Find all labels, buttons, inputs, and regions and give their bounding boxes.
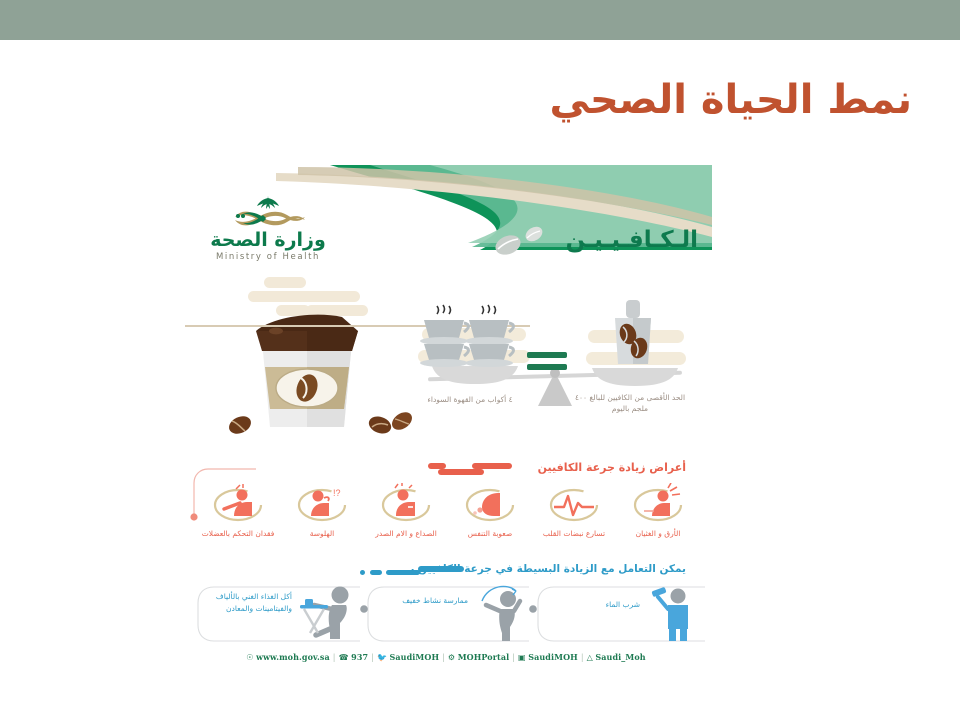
light-activity-person-icon — [472, 583, 532, 641]
footer-separator: | — [581, 653, 584, 662]
footer-instagram[interactable]: SaudiMOH — [528, 652, 578, 662]
snapchat-icon: △ — [587, 653, 593, 662]
footer-separator: | — [333, 653, 336, 662]
coffee-bean-decoration-icon — [490, 223, 552, 261]
hallucination-icon: !? — [294, 483, 350, 523]
breathing-difficulty-icon — [462, 483, 518, 523]
saudi-emblem-icon — [225, 195, 311, 231]
symptoms-heading: أعراض زيادة جرعة الكافيين — [538, 461, 686, 474]
symptoms-list: الأرق و الغثيان تسارع نبضات القلب — [200, 483, 700, 563]
footer-separator: | — [512, 653, 515, 662]
coffee-bean-jar — [615, 300, 651, 364]
moh-logo-arabic: وزارة الصحة — [188, 229, 348, 251]
scale-right-label: الحد الأقصى من الكافيين للبالغ ٤٠٠ ملجم … — [570, 393, 690, 415]
moh-logo-english: Ministry of Health — [188, 252, 348, 262]
tip-item: ممارسة نشاط خفيف — [382, 583, 532, 641]
page-title: نمط الحياة الصحي — [550, 78, 912, 122]
tip-label: أكل الغذاء الغني بالألياف والفيتامينات و… — [212, 591, 292, 614]
symptom-label: الصداع و الام الصدر — [364, 528, 448, 539]
symptoms-dash-decoration — [428, 463, 518, 477]
svg-text:!?: !? — [333, 488, 341, 498]
footer-snapchat[interactable]: Saudi_Moh — [595, 652, 645, 662]
symptom-label: صعوبة التنفس — [448, 528, 532, 539]
twitter-icon: 🐦 — [377, 653, 387, 662]
symptom-label: فقدان التحكم بالعضلات — [196, 528, 280, 539]
symptom-item: الأرق و الغثيان — [616, 483, 700, 539]
symptom-label: تسارع نبضات القلب — [532, 528, 616, 539]
footer-twitter[interactable]: SaudiMOH — [390, 652, 440, 662]
tips-list: شرب الماء ممارسة نشاط خفيف — [184, 583, 709, 645]
coffee-cup-illustration — [202, 275, 427, 445]
scale-left-label: ٤ أكواب من القهوة السوداء — [415, 395, 525, 406]
symptom-label: الهلوسة — [280, 528, 364, 539]
caffeine-balance-scale: ٤ أكواب من القهوة السوداء الحد الأقصى من… — [410, 300, 700, 445]
tip-item: شرب الماء — [552, 583, 702, 641]
tips-dash-decoration — [360, 565, 470, 577]
infographic-heading: الـكـافـيـيـن — [566, 227, 698, 253]
drinking-water-person-icon — [646, 583, 702, 641]
footer-portal[interactable]: MOHPortal — [458, 652, 510, 662]
symptom-item: صعوبة التنفس — [448, 483, 532, 539]
moh-logo: وزارة الصحة Ministry of Health — [188, 195, 348, 265]
eating-person-icon — [296, 583, 362, 641]
phone-icon: ☎ — [339, 653, 349, 662]
footer-contact-bar: ☉www.moh.gov.sa|☎937|🐦SaudiMOH|⚙MOHPorta… — [180, 652, 712, 662]
caffeine-infographic: وزارة الصحة Ministry of Health الـكـافـي… — [180, 165, 712, 677]
symptom-item: تسارع نبضات القلب — [532, 483, 616, 539]
portal-icon: ⚙ — [448, 653, 455, 662]
tip-item: أكل الغذاء الغني بالألياف والفيتامينات و… — [210, 583, 362, 641]
heartbeat-icon — [546, 483, 602, 523]
footer-phone: 937 — [351, 652, 368, 662]
top-decorative-bar — [0, 0, 960, 40]
globe-icon: ☉ — [246, 653, 253, 662]
symptom-label: الأرق و الغثيان — [616, 528, 700, 539]
muscle-control-loss-icon — [210, 483, 266, 523]
symptom-item: الصداع و الام الصدر — [364, 483, 448, 539]
footer-separator: | — [371, 653, 374, 662]
tip-label: شرب الماء — [558, 599, 640, 611]
footer-website[interactable]: www.moh.gov.sa — [256, 652, 330, 662]
footer-separator: | — [442, 653, 445, 662]
symptom-item: فقدان التحكم بالعضلات — [196, 483, 280, 539]
symptom-item: !? الهلوسة — [280, 483, 364, 539]
tip-label: ممارسة نشاط خفيف — [390, 595, 468, 607]
instagram-icon: ▣ — [518, 653, 526, 662]
insomnia-nausea-icon — [630, 483, 686, 523]
equals-sign-icon — [527, 352, 567, 370]
headache-chest-pain-icon — [378, 483, 434, 523]
